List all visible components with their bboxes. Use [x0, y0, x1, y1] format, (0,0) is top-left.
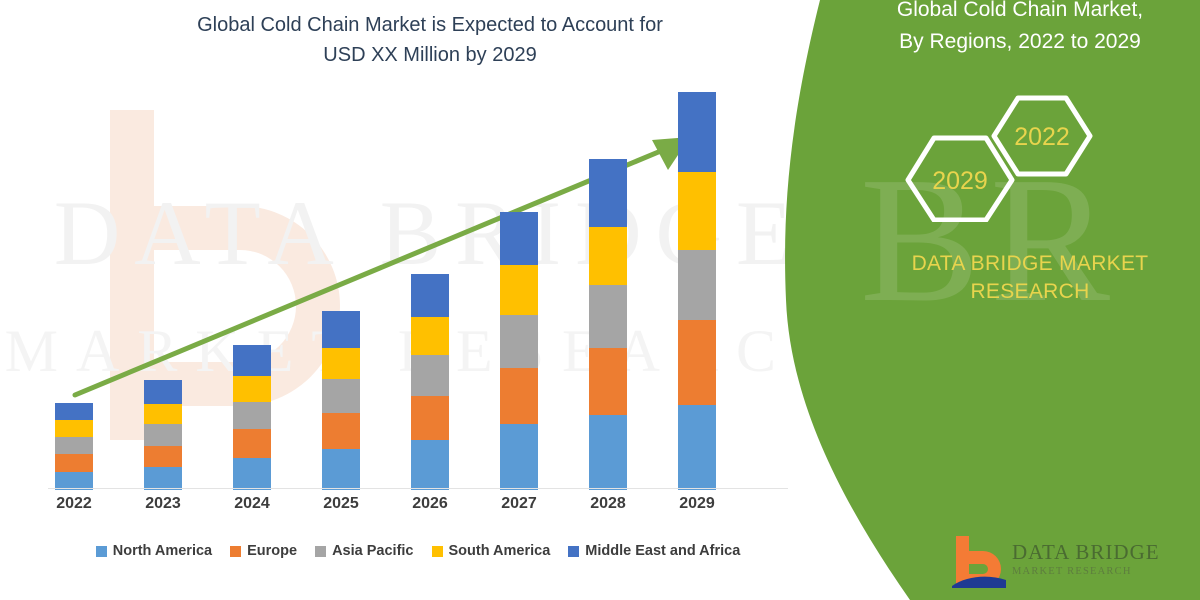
bar-segment-middle-east-and-africa-2028: [589, 159, 627, 227]
x-axis-label-2024: 2024: [217, 495, 287, 513]
legend-label: Asia Pacific: [332, 543, 413, 559]
bar-segment-south-america-2028: [589, 227, 627, 286]
chart-title-line-1: Global Cold Chain Market is Expected to …: [140, 10, 720, 40]
bar-segment-north-america-2025: [322, 449, 360, 490]
bar-segment-asia-pacific-2028: [589, 285, 627, 347]
bar-segment-north-america-2028: [589, 415, 627, 490]
legend-swatch-icon: [315, 546, 326, 557]
bar-segment-south-america-2027: [500, 265, 538, 315]
legend-label: South America: [449, 543, 551, 559]
chart-plot-area: [0, 90, 800, 490]
legend-label: Middle East and Africa: [585, 543, 740, 559]
brand-name-line-2: RESEARCH: [870, 278, 1190, 306]
bar-column-2024: [233, 345, 271, 490]
bar-column-2022: [55, 403, 93, 490]
x-axis-label-2023: 2023: [128, 495, 198, 513]
bar-column-2025: [322, 311, 360, 490]
bar-segment-europe-2022: [55, 454, 93, 472]
page-title: Global Cold Chain Market is Expected to …: [140, 10, 720, 70]
legend-label: North America: [113, 543, 212, 559]
bar-segment-asia-pacific-2027: [500, 315, 538, 368]
bar-segment-asia-pacific-2026: [411, 355, 449, 396]
bar-segment-europe-2023: [144, 446, 182, 467]
x-axis-label-2028: 2028: [573, 495, 643, 513]
hexagon-2022-label: 2022: [1014, 123, 1070, 151]
legend-swatch-icon: [432, 546, 443, 557]
bar-segment-europe-2026: [411, 396, 449, 440]
bar-segment-asia-pacific-2024: [233, 402, 271, 429]
bar-segment-europe-2025: [322, 413, 360, 449]
dbmr-logo: DATA BRIDGE MARKET RESEARCH: [950, 534, 1170, 592]
bar-column-2023: [144, 380, 182, 490]
bar-segment-north-america-2026: [411, 440, 449, 490]
brand-panel-title: Global Cold Chain Market, By Regions, 20…: [840, 0, 1200, 58]
legend-item-asia-pacific[interactable]: Asia Pacific: [315, 543, 413, 559]
bar-segment-south-america-2022: [55, 420, 93, 437]
legend-label: Europe: [247, 543, 297, 559]
bar-segment-south-america-2024: [233, 376, 271, 402]
brand-panel: BR Global Cold Chain Market, By Regions,…: [780, 0, 1200, 600]
dbmr-logo-mark-icon: [950, 536, 1008, 588]
bar-column-2028: [589, 159, 627, 490]
x-axis-label-2029: 2029: [662, 495, 732, 513]
brand-name: DATA BRIDGE MARKET RESEARCH: [870, 250, 1190, 306]
dbmr-logo-subtitle: MARKET RESEARCH: [1012, 566, 1132, 577]
bar-segment-asia-pacific-2025: [322, 379, 360, 413]
brand-panel-title-line-1: Global Cold Chain Market,: [840, 0, 1200, 26]
x-axis-line: [48, 488, 788, 489]
bar-segment-south-america-2023: [144, 404, 182, 424]
legend-swatch-icon: [568, 546, 579, 557]
bar-segment-middle-east-and-africa-2023: [144, 380, 182, 404]
dbmr-logo-name: DATA BRIDGE: [1012, 540, 1160, 565]
bar-segment-asia-pacific-2023: [144, 424, 182, 445]
x-axis-labels: 20222023202420252026202720282029: [0, 495, 800, 523]
bar-segment-europe-2028: [589, 348, 627, 416]
brand-panel-title-line-2: By Regions, 2022 to 2029: [840, 26, 1200, 58]
chart-legend: North AmericaEuropeAsia PacificSouth Ame…: [48, 540, 788, 562]
bar-segment-north-america-2029: [678, 405, 716, 490]
bar-segment-asia-pacific-2029: [678, 250, 716, 320]
bar-segment-europe-2029: [678, 320, 716, 405]
legend-swatch-icon: [96, 546, 107, 557]
bar-segment-europe-2024: [233, 429, 271, 458]
hexagon-group: 2022 2029: [890, 92, 1110, 222]
x-axis-label-2025: 2025: [306, 495, 376, 513]
chart-title-line-2: USD XX Million by 2029: [140, 40, 720, 70]
legend-item-europe[interactable]: Europe: [230, 543, 297, 559]
legend-item-south-america[interactable]: South America: [432, 543, 551, 559]
bar-segment-middle-east-and-africa-2025: [322, 311, 360, 347]
bar-segment-asia-pacific-2022: [55, 437, 93, 454]
bar-segment-middle-east-and-africa-2024: [233, 345, 271, 376]
infographic-canvas: DATA BRIDGE MARKET RESEARCH Global Cold …: [0, 0, 1200, 600]
bar-segment-north-america-2023: [144, 467, 182, 490]
bar-column-2026: [411, 274, 449, 490]
bar-segment-middle-east-and-africa-2029: [678, 92, 716, 172]
bar-segment-north-america-2027: [500, 424, 538, 490]
x-axis-label-2027: 2027: [484, 495, 554, 513]
bar-segment-middle-east-and-africa-2022: [55, 403, 93, 420]
stacked-bars: [0, 90, 800, 490]
bar-column-2029: [678, 92, 716, 490]
x-axis-label-2026: 2026: [395, 495, 465, 513]
x-axis-label-2022: 2022: [39, 495, 109, 513]
legend-item-middle-east-and-africa[interactable]: Middle East and Africa: [568, 543, 740, 559]
bar-segment-middle-east-and-africa-2026: [411, 274, 449, 317]
legend-swatch-icon: [230, 546, 241, 557]
bar-segment-middle-east-and-africa-2027: [500, 212, 538, 265]
hexagon-2029-label: 2029: [932, 167, 988, 195]
bar-segment-south-america-2026: [411, 317, 449, 355]
bar-segment-europe-2027: [500, 368, 538, 425]
bar-segment-south-america-2025: [322, 348, 360, 380]
legend-item-north-america[interactable]: North America: [96, 543, 212, 559]
brand-name-line-1: DATA BRIDGE MARKET: [870, 250, 1190, 278]
bar-segment-north-america-2024: [233, 458, 271, 490]
hexagon-badges-icon: 2022 2029: [890, 92, 1110, 222]
bar-segment-south-america-2029: [678, 172, 716, 250]
bar-column-2027: [500, 212, 538, 490]
